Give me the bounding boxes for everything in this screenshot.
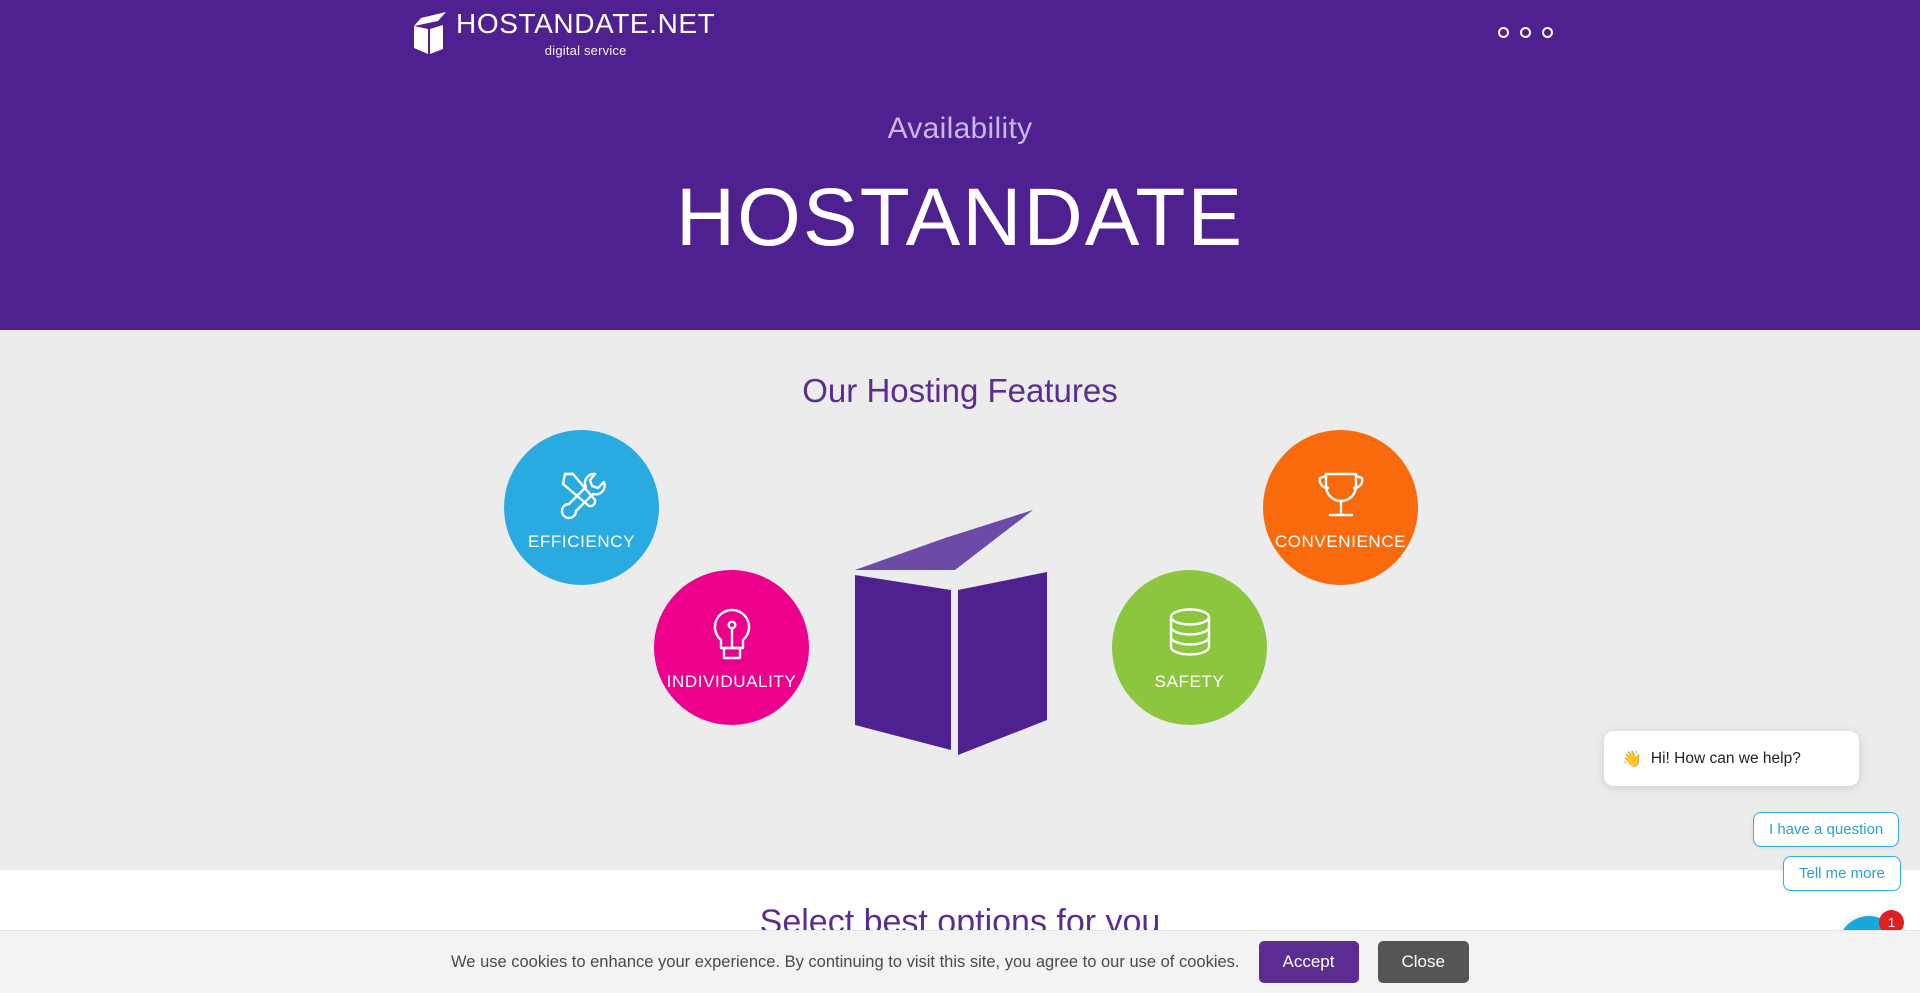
cookie-close-button[interactable]: Close: [1378, 941, 1469, 983]
page-title: HOSTANDATE: [676, 172, 1244, 264]
quick-reply-question[interactable]: I have a question: [1753, 812, 1899, 847]
feature-label-individuality: INDIVIDUALITY: [667, 672, 797, 692]
feature-circle-individuality[interactable]: INDIVIDUALITY: [654, 570, 809, 725]
brand-logo[interactable]: HOSTANDATE.NET digital service: [412, 8, 715, 58]
chat-greeting-text: Hi! How can we help?: [1651, 750, 1801, 768]
hero-section: Availability HOSTANDATE: [0, 70, 1920, 330]
feature-label-convenience: CONVENIENCE: [1275, 532, 1406, 552]
open-box-illustration: [855, 510, 1055, 755]
feature-circle-safety[interactable]: SAFETY: [1112, 570, 1267, 725]
database-stack-icon: [1160, 604, 1220, 666]
cookie-banner: We use cookies to enhance your experienc…: [0, 930, 1920, 993]
menu-dot-2: [1520, 27, 1531, 38]
menu-dot-3: [1542, 27, 1553, 38]
open-box-logo-icon: [412, 12, 446, 54]
three-dots-menu-icon[interactable]: [1498, 27, 1553, 38]
cookie-message: We use cookies to enhance your experienc…: [451, 953, 1239, 972]
feature-label-efficiency: EFFICIENCY: [528, 532, 635, 552]
trophy-icon: [1310, 464, 1372, 526]
features-section: Our Hosting Features EFFICIENCY: [0, 330, 1920, 870]
cookie-accept-button[interactable]: Accept: [1259, 941, 1359, 983]
brand-tagline: digital service: [456, 43, 715, 58]
site-header: HOSTANDATE.NET digital service: [0, 0, 1920, 70]
lightbulb-icon: [702, 604, 762, 666]
hero-kicker: Availability: [888, 112, 1033, 146]
feature-circle-convenience[interactable]: CONVENIENCE: [1263, 430, 1418, 585]
feature-circle-efficiency[interactable]: EFFICIENCY: [504, 430, 659, 585]
menu-dot-1: [1498, 27, 1509, 38]
wave-emoji-icon: 👋: [1622, 749, 1642, 769]
quick-reply-tell-more[interactable]: Tell me more: [1783, 856, 1901, 891]
brand-name: HOSTANDATE.NET: [456, 8, 715, 40]
wrench-screwdriver-icon: [551, 464, 613, 526]
feature-label-safety: SAFETY: [1155, 672, 1225, 692]
chat-greeting-bubble[interactable]: 👋 Hi! How can we help?: [1604, 731, 1859, 786]
page-root: HOSTANDATE.NET digital service Availabil…: [0, 0, 1920, 993]
features-heading: Our Hosting Features: [0, 372, 1920, 410]
